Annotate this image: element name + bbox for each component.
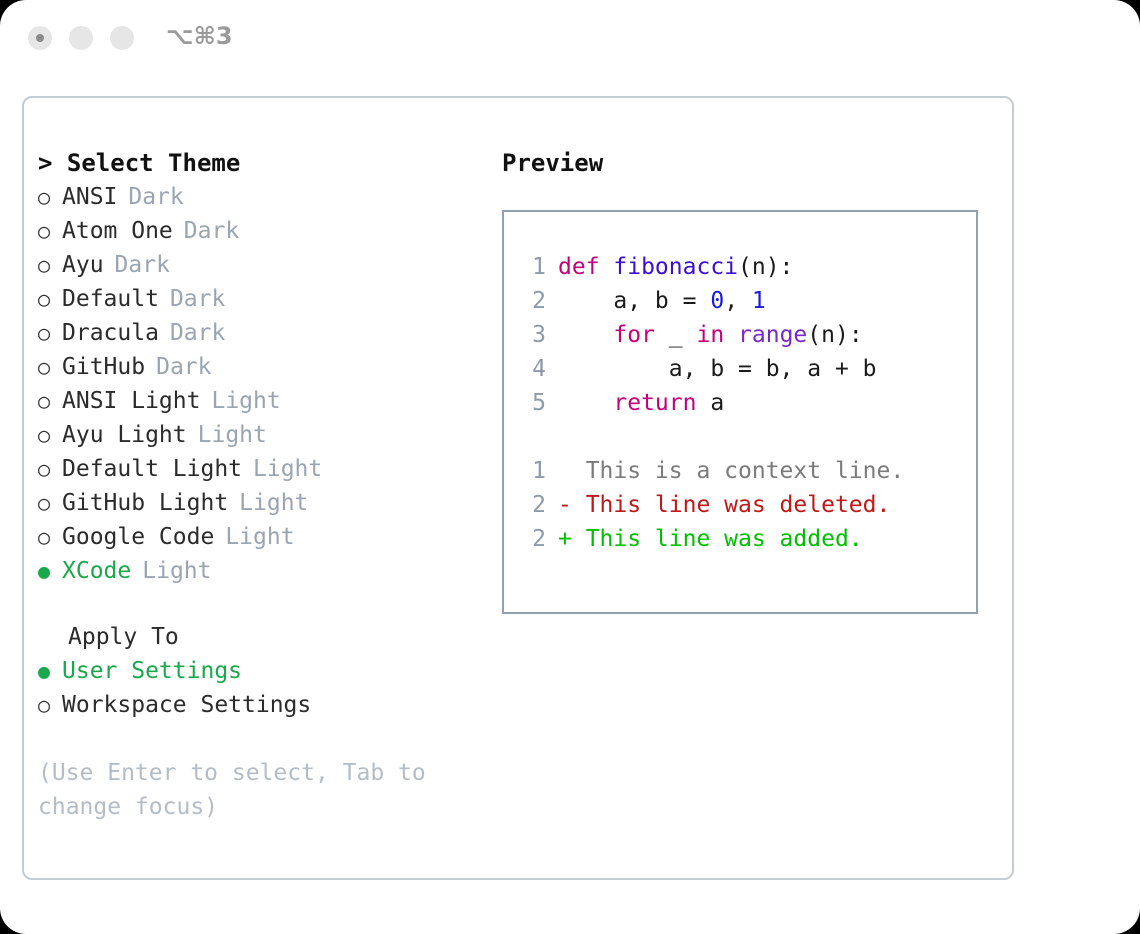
theme-option-default[interactable]: ○DefaultDark <box>38 282 488 316</box>
radio-unselected-icon: ○ <box>38 214 62 248</box>
diff_lines-line: 1 This is a context line. <box>520 454 904 488</box>
app-window: ⌥⌘3 > Select Theme ○ANSIDark○Atom OneDar… <box>0 0 1140 934</box>
theme-option-github[interactable]: ○GitHubDark <box>38 350 488 384</box>
line-number: 4 <box>520 352 546 386</box>
theme-option-default-light[interactable]: ○Default LightLight <box>38 452 488 486</box>
radio-unselected-icon: ○ <box>38 350 62 384</box>
token-kw: in <box>696 322 724 348</box>
theme-option-kind: Dark <box>170 282 225 316</box>
radio-unselected-icon: ○ <box>38 486 62 520</box>
apply-to-option-user-settings[interactable]: ●User Settings <box>38 654 488 688</box>
apply-to-option-label: Workspace Settings <box>62 688 311 722</box>
token-txt: a <box>696 390 724 416</box>
line-number: 1 <box>520 454 546 488</box>
theme-option-kind: Dark <box>170 316 225 350</box>
apply-to-heading: Apply To <box>38 620 488 654</box>
select-theme-heading: > Select Theme <box>38 146 488 180</box>
preview-box: 1def fibonacci(n):2 a, b = 0, 13 for _ i… <box>502 210 978 614</box>
preview-column: Preview 1def fibonacci(n):2 a, b = 0, 13… <box>502 146 1002 614</box>
radio-unselected-icon: ○ <box>38 282 62 316</box>
radio-selected-icon: ● <box>38 554 62 588</box>
token-add: + This line was added. <box>558 526 863 552</box>
code_lines-line-content: a, b = b, a + b <box>558 352 877 386</box>
code_lines-line: 2 a, b = 0, 1 <box>520 284 904 318</box>
token-txt <box>558 322 613 348</box>
theme-option-kind: Light <box>198 418 267 452</box>
keyboard-shortcut-label: ⌥⌘3 <box>166 22 233 50</box>
theme-option-label: Google Code <box>62 520 214 554</box>
theme-option-kind: Dark <box>128 180 183 214</box>
window-close-indicator <box>36 34 44 42</box>
theme-option-ayu-light[interactable]: ○Ayu LightLight <box>38 418 488 452</box>
title-bar: ⌥⌘3 <box>0 0 1140 78</box>
diff_lines-line: 2- This line was deleted. <box>520 488 904 522</box>
token-num: 0 <box>710 288 724 314</box>
theme-option-google-code[interactable]: ○Google CodeLight <box>38 520 488 554</box>
radio-selected-icon: ● <box>38 654 62 688</box>
apply-to-option-workspace-settings[interactable]: ○Workspace Settings <box>38 688 488 722</box>
radio-unselected-icon: ○ <box>38 180 62 214</box>
token-fn: fibonacci <box>613 254 738 280</box>
line-number: 2 <box>520 488 546 522</box>
line-number: 3 <box>520 318 546 352</box>
token-txt: , <box>724 288 752 314</box>
radio-unselected-icon: ○ <box>38 384 62 418</box>
theme-option-kind: Light <box>211 384 280 418</box>
theme-option-kind: Dark <box>156 350 211 384</box>
radio-unselected-icon: ○ <box>38 688 62 722</box>
token-txt: (n): <box>807 322 862 348</box>
token-txt: a, b = <box>558 288 710 314</box>
theme-option-label: Dracula <box>62 316 159 350</box>
theme-option-kind: Light <box>239 486 308 520</box>
window-maximize-button[interactable] <box>110 26 134 50</box>
theme-option-github-light[interactable]: ○GitHub LightLight <box>38 486 488 520</box>
theme-option-kind: Light <box>225 520 294 554</box>
code_lines-line-content: for _ in range(n): <box>558 318 863 352</box>
radio-unselected-icon: ○ <box>38 452 62 486</box>
theme-option-label: Default Light <box>62 452 242 486</box>
code_lines-line: 5 return a <box>520 386 904 420</box>
theme-option-dracula[interactable]: ○DraculaDark <box>38 316 488 350</box>
theme-option-xcode[interactable]: ●XCodeLight <box>38 554 488 588</box>
radio-unselected-icon: ○ <box>38 520 62 554</box>
theme-option-ansi[interactable]: ○ANSIDark <box>38 180 488 214</box>
line-number: 2 <box>520 522 546 556</box>
theme-list: ○ANSIDark○Atom OneDark○AyuDark○DefaultDa… <box>38 180 488 588</box>
theme-option-label: Atom One <box>62 214 173 248</box>
token-kw: def <box>558 254 613 280</box>
token-kw: for <box>613 322 655 348</box>
diff_lines-line: 2+ This line was added. <box>520 522 904 556</box>
section-spacer <box>38 588 488 620</box>
main-panel: > Select Theme ○ANSIDark○Atom OneDark○Ay… <box>22 96 1014 880</box>
diff_lines-line-content: - This line was deleted. <box>558 488 890 522</box>
token-kw: return <box>613 390 696 416</box>
theme-option-kind: Light <box>142 554 211 588</box>
preview-code: 1def fibonacci(n):2 a, b = 0, 13 for _ i… <box>520 250 904 556</box>
theme-option-label: Default <box>62 282 159 316</box>
theme-picker-column: > Select Theme ○ANSIDark○Atom OneDark○Ay… <box>38 146 488 824</box>
line-number: 5 <box>520 386 546 420</box>
code_lines-line-content: def fibonacci(n): <box>558 250 793 284</box>
code_lines-line: 1def fibonacci(n): <box>520 250 904 284</box>
theme-option-ansi-light[interactable]: ○ANSI LightLight <box>38 384 488 418</box>
theme-option-label: XCode <box>62 554 131 588</box>
theme-option-kind: Dark <box>115 248 170 282</box>
theme-option-label: ANSI Light <box>62 384 200 418</box>
token-txt: a, b = b, a + b <box>558 356 877 382</box>
code_lines-line-content: return a <box>558 386 724 420</box>
keyboard-hint-text: (Use Enter to select, Tab to change focu… <box>38 756 458 824</box>
code_lines-line: 4 a, b = b, a + b <box>520 352 904 386</box>
token-txt <box>558 390 613 416</box>
token-txt: _ <box>655 322 697 348</box>
line-number: 1 <box>520 250 546 284</box>
theme-option-label: GitHub <box>62 350 145 384</box>
token-del: - This line was deleted. <box>558 492 890 518</box>
token-num: 1 <box>752 288 766 314</box>
radio-unselected-icon: ○ <box>38 418 62 452</box>
code_lines-line-content: a, b = 0, 1 <box>558 284 766 318</box>
token-ctx: This is a context line. <box>558 458 904 484</box>
code_lines-line: 3 for _ in range(n): <box>520 318 904 352</box>
theme-option-atom-one[interactable]: ○Atom OneDark <box>38 214 488 248</box>
code-diff-separator <box>520 420 904 454</box>
diff_lines-line-content: + This line was added. <box>558 522 863 556</box>
theme-option-label: Ayu Light <box>62 418 187 452</box>
traffic-light-buttons <box>28 26 134 50</box>
token-call: range <box>738 322 807 348</box>
theme-option-kind: Light <box>253 452 322 486</box>
theme-option-label: GitHub Light <box>62 486 228 520</box>
token-txt: (n): <box>738 254 793 280</box>
theme-option-label: ANSI <box>62 180 117 214</box>
diff_lines-line-content: This is a context line. <box>558 454 904 488</box>
token-txt <box>724 322 738 348</box>
radio-unselected-icon: ○ <box>38 248 62 282</box>
window-close-button[interactable] <box>28 26 52 50</box>
window-minimize-button[interactable] <box>69 26 93 50</box>
radio-unselected-icon: ○ <box>38 316 62 350</box>
apply-to-option-label: User Settings <box>62 654 242 688</box>
theme-option-label: Ayu <box>62 248 104 282</box>
preview-title: Preview <box>502 146 1002 180</box>
line-number: 2 <box>520 284 546 318</box>
theme-option-ayu[interactable]: ○AyuDark <box>38 248 488 282</box>
theme-option-kind: Dark <box>184 214 239 248</box>
apply-to-list: ●User Settings○Workspace Settings <box>38 654 488 722</box>
